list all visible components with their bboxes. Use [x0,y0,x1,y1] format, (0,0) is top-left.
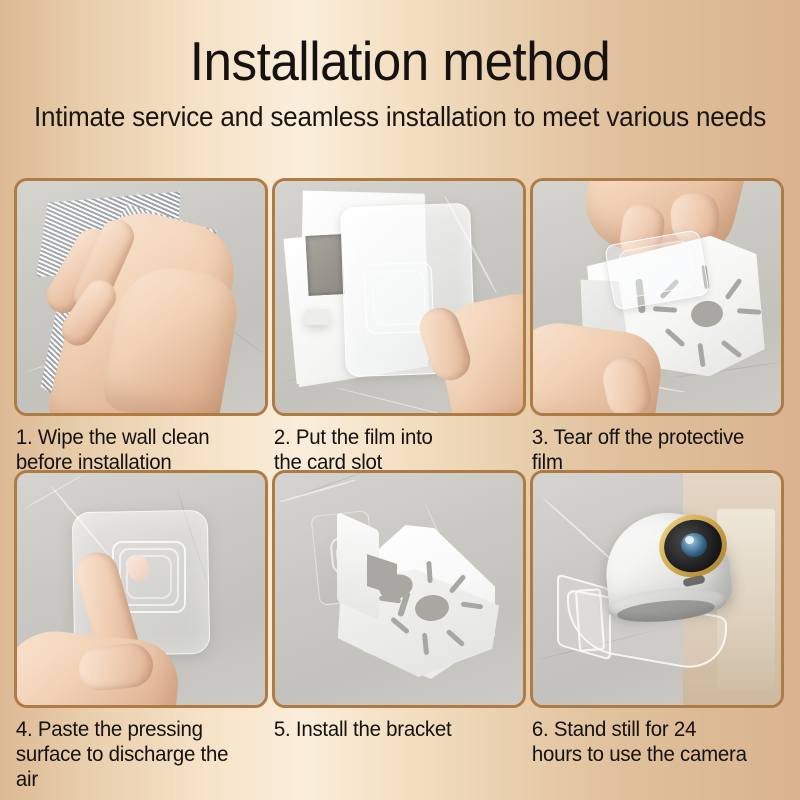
camera-lens-highlight [685,536,694,544]
caption-line-1: 5. Install the bracket [274,717,513,742]
page-subtitle: Intimate service and seamless installati… [28,100,772,134]
installation-guide-page: Installation method Intimate service and… [0,0,800,800]
caption-line-1: 3. Tear off the protective film [532,425,771,475]
step-card-6: 6. Stand still for 24 hours to use the c… [530,470,784,767]
slot-tab [305,309,329,325]
step-caption-5: 5. Install the bracket [272,717,513,742]
camera-bracket-arm [575,588,605,652]
step-caption-2: 2. Put the film into the card slot [272,425,513,475]
caption-line-1: 2. Put the film into [274,425,513,450]
camera-lens-glass [681,533,707,557]
step-image-4 [14,470,268,708]
header: Installation method Intimate service and… [0,0,800,168]
step-image-5 [272,470,526,708]
slot-window [305,234,344,296]
step-image-6 [530,470,784,708]
page-title: Installation method [28,30,772,92]
caption-line-2: surface to discharge the air [16,742,255,792]
step-image-3 [530,178,784,416]
step-image-1 [14,178,268,416]
steps-grid: 1. Wipe the wall clean before installati… [14,178,786,788]
step-image-2 [272,178,526,416]
step-card-4: 4. Paste the pressing surface to dischar… [14,470,268,792]
step-card-5: 5. Install the bracket [272,470,526,742]
caption-line-2: hours to use the camera [532,742,771,767]
step-card-1: 1. Wipe the wall clean before installati… [14,178,268,475]
step-caption-4: 4. Paste the pressing surface to dischar… [14,717,255,792]
step-caption-1: 1. Wipe the wall clean before installati… [14,425,255,475]
caption-line-1: 4. Paste the pressing [16,717,255,742]
caption-line-1: 1. Wipe the wall clean [16,425,255,450]
step-card-2: 2. Put the film into the card slot [272,178,526,475]
step-caption-6: 6. Stand still for 24 hours to use the c… [530,717,771,767]
adhesive-film-inner-square-2 [372,270,426,326]
caption-line-1: 6. Stand still for 24 [532,717,771,742]
